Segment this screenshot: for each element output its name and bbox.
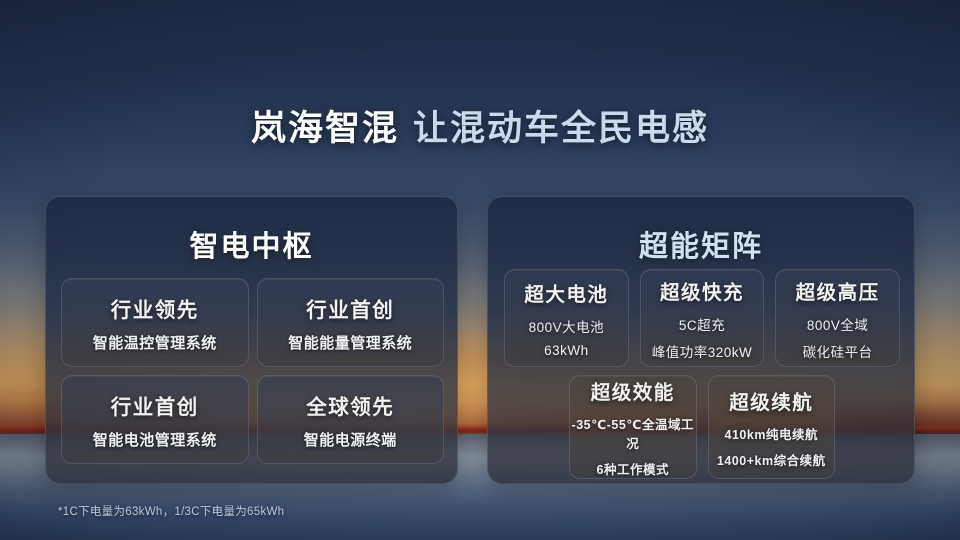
card-global-leading-power-terminal[interactable]: 全球领先 智能电源终端 [257, 375, 445, 464]
card-heading: 行业领先 [111, 293, 199, 323]
panel-right-card-row-top: 超大电池 800V大电池 63kWh 超级快充 5C超充 峰值功率320kW 超… [504, 269, 900, 367]
panel-left-title: 智电中枢 [46, 223, 457, 265]
panel-right-card-row-bottom: 超级效能 -35℃-55℃全温域工况 6种工作模式 超级续航 410km纯电续航… [569, 375, 835, 471]
card-line: 1400+km综合续航 [717, 450, 826, 469]
slide-title: 岚海智混让混动车全民电感 [0, 100, 960, 151]
card-heading: 超级效能 [591, 376, 675, 405]
card-line: 智能电池管理系统 [93, 429, 217, 450]
footnote: *1C下电量为63kWh，1/3C下电量为65kWh [58, 503, 284, 519]
card-line: 5C超充 [679, 314, 725, 334]
card-super-efficiency[interactable]: 超级效能 -35℃-55℃全温域工况 6种工作模式 [569, 375, 697, 479]
card-heading: 超级续航 [729, 386, 813, 415]
card-line: 碳化硅平台 [803, 341, 873, 361]
card-line: 智能能量管理系统 [288, 332, 412, 353]
card-line: 智能电源终端 [304, 429, 397, 450]
panel-right-title: 超能矩阵 [488, 223, 914, 265]
card-heading: 行业首创 [111, 390, 199, 420]
card-line: 6种工作模式 [597, 459, 669, 478]
slide-title-sub: 让混动车全民电感 [413, 109, 709, 148]
card-heading: 超级快充 [660, 276, 744, 305]
card-industry-first-energy[interactable]: 行业首创 智能能量管理系统 [257, 278, 445, 367]
card-super-high-voltage[interactable]: 超级高压 800V全域 碳化硅平台 [775, 269, 900, 367]
card-line: 峰值功率320kW [652, 341, 753, 361]
card-super-fast-charge[interactable]: 超级快充 5C超充 峰值功率320kW [640, 269, 765, 367]
card-line: 410km纯电续航 [725, 424, 818, 443]
card-line: 800V全域 [807, 314, 869, 334]
panel-left-card-grid: 行业领先 智能温控管理系统 行业首创 智能能量管理系统 行业首创 智能电池管理系… [61, 278, 444, 464]
panel-smart-electric-hub: 智电中枢 行业领先 智能温控管理系统 行业首创 智能能量管理系统 行业首创 智能… [45, 196, 458, 484]
card-line: 智能温控管理系统 [93, 332, 217, 353]
card-heading: 全球领先 [306, 390, 394, 420]
card-super-range[interactable]: 超级续航 410km纯电续航 1400+km综合续航 [708, 375, 836, 479]
card-industry-leading-thermal[interactable]: 行业领先 智能温控管理系统 [61, 278, 249, 367]
panel-super-energy-matrix: 超能矩阵 超大电池 800V大电池 63kWh 超级快充 5C超充 峰值功率32… [487, 196, 915, 484]
card-industry-first-battery[interactable]: 行业首创 智能电池管理系统 [61, 375, 249, 464]
card-heading: 超大电池 [524, 278, 608, 307]
card-line: -35℃-55℃全温域工况 [570, 414, 696, 452]
card-line: 800V大电池 [529, 316, 605, 336]
card-heading: 超级高压 [796, 276, 880, 305]
slide-title-main: 岚海智混 [251, 109, 399, 148]
card-line: 63kWh [544, 343, 589, 358]
card-large-battery[interactable]: 超大电池 800V大电池 63kWh [504, 269, 629, 367]
card-heading: 行业首创 [306, 293, 394, 323]
